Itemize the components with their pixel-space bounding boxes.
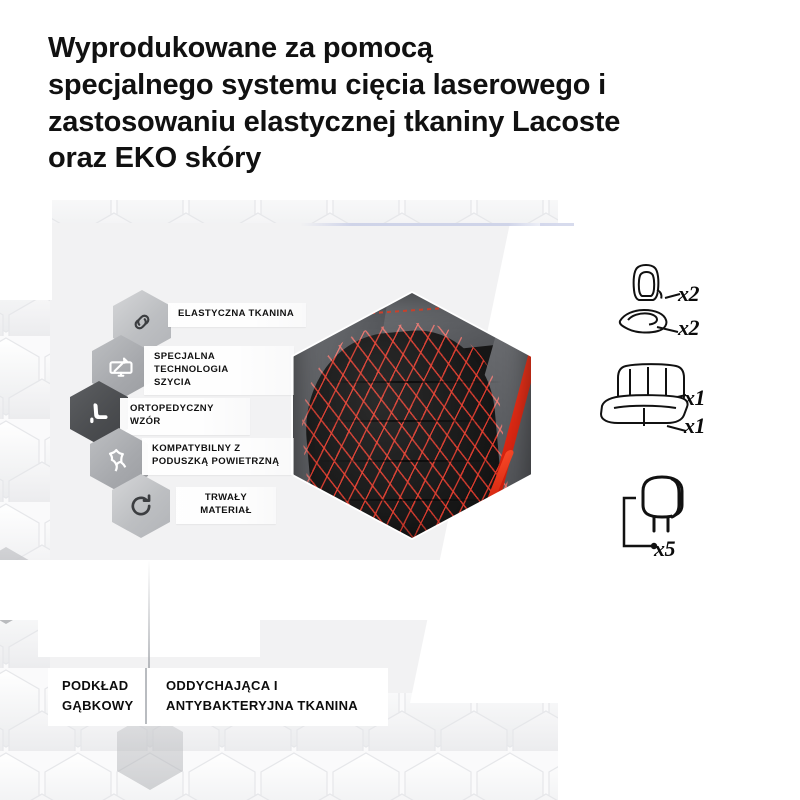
seat-seam: [317, 499, 503, 501]
bottom-divider-line: [148, 560, 150, 676]
infographic-stage: Wyprodukowane za pomocą specjalnego syst…: [0, 0, 800, 800]
front-seat-cushion-count: x2: [678, 315, 699, 341]
airbag-icon: [105, 446, 133, 474]
seat-seam: [317, 420, 503, 422]
chain-link-icon: [129, 309, 155, 335]
feature-label-3: ORTOPEDYCZNY WZÓR: [120, 398, 250, 435]
leader-line-4: [666, 424, 688, 434]
orthopedic-seat-icon: [86, 399, 112, 427]
bottom-label-2: ODDYCHAJĄCA I ANTYBAKTERYJNA TKANINA: [152, 668, 388, 726]
leader-line-1: [664, 292, 682, 300]
feature-label-1: ELASTYCZNA TKANINA: [168, 303, 306, 327]
feature-label-5: TRWAŁY MATERIAŁ: [176, 487, 276, 524]
left-top-white-area: [0, 200, 52, 300]
bottom-labels-divider: [145, 668, 147, 724]
feature-label-2: SPECJALNA TECHNOLOGIA SZYCIA: [144, 346, 294, 395]
seat-seam: [317, 381, 503, 383]
front-seat-cushion-glyph: [614, 307, 670, 341]
sewing-machine-icon: [107, 353, 135, 381]
leader-line-2: [656, 325, 680, 335]
panel-top-accent-line-2: [540, 223, 574, 226]
page-title: Wyprodukowane za pomocą specjalnego syst…: [48, 30, 768, 177]
panel-top-accent-line: [300, 223, 560, 226]
durability-arrow-icon: [127, 492, 155, 520]
seat-seam: [317, 460, 503, 462]
leader-line-5: [620, 496, 662, 552]
feature-label-4: KOMPATYBILNY Z PODUSZKĄ POWIETRZNĄ: [142, 438, 294, 475]
